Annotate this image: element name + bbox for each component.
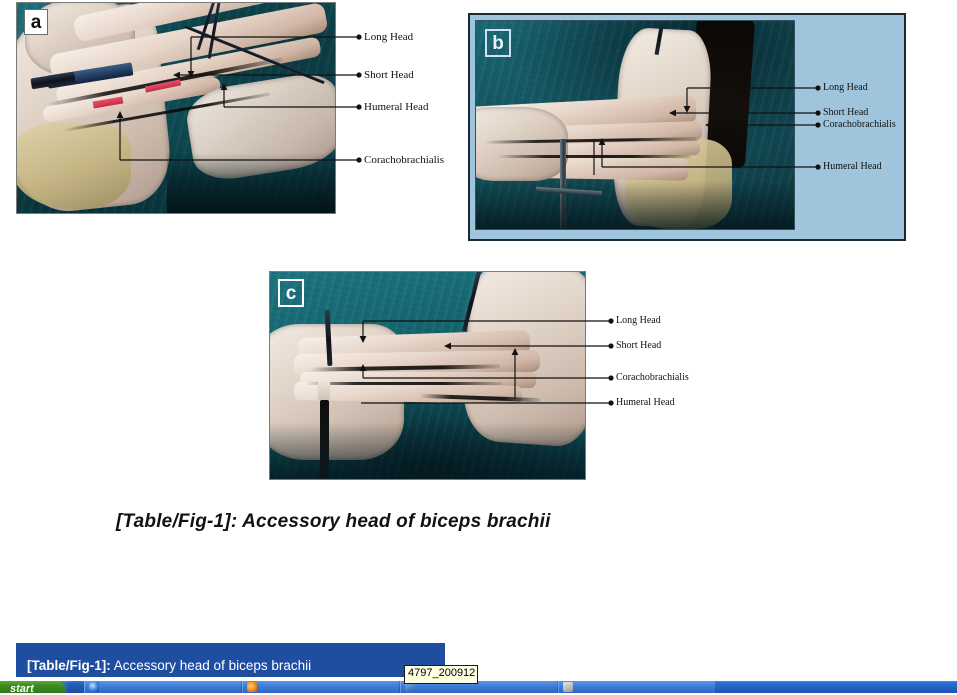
panel-a-shadow — [167, 153, 336, 214]
panel-b-label-corachobrachialis: Corachobrachialis — [823, 120, 896, 130]
panel-c-label-corachobrachialis: Corachobrachialis — [616, 373, 689, 383]
windows-taskbar[interactable]: start — [0, 681, 957, 693]
panel-c-marker: c — [278, 279, 304, 307]
panel-a-marker: a — [24, 9, 48, 35]
panel-b-photograph: b — [475, 20, 795, 230]
start-button-label: start — [10, 684, 34, 695]
figure-panel-a: a Long Head Short Head Humeral Head Cora… — [16, 2, 464, 214]
caption-banner-prefix: [Table/Fig-1]: — [27, 658, 111, 673]
caption-banner-text: [Table/Fig-1]: Accessory head of biceps … — [27, 659, 311, 673]
taskbar-button-4[interactable] — [558, 681, 716, 693]
panel-b-label-humeral-head: Humeral Head — [823, 162, 882, 172]
panel-a-label-long-head: Long Head — [364, 32, 413, 43]
figure-panel-c: c Long Head Short Head Corachobrachialis… — [269, 271, 699, 479]
firefox-icon — [247, 682, 257, 692]
taskbar-button-1[interactable] — [84, 681, 242, 693]
figure-caption: [Table/Fig-1]: Accessory head of biceps … — [116, 511, 551, 533]
panel-c-label-long-head: Long Head — [616, 316, 661, 326]
file-tooltip: 4797_200912 — [404, 665, 478, 684]
panel-a-fat-tissue — [16, 123, 131, 209]
mail-icon — [563, 682, 573, 692]
panel-c-label-humeral-head: Humeral Head — [616, 398, 675, 408]
panel-b-fascial-plane-2 — [498, 155, 690, 158]
start-button[interactable]: start — [0, 681, 66, 693]
panel-c-fascial-plane-2 — [306, 382, 502, 385]
panel-c-marker-letter: c — [286, 284, 297, 303]
panel-b-shadow — [476, 181, 794, 229]
panel-b-marker: b — [485, 29, 511, 57]
panel-c-shadow — [270, 422, 585, 479]
panel-b-marker-letter: b — [492, 34, 504, 53]
panel-a-label-corachobrachialis: Corachobrachialis — [364, 155, 444, 166]
panel-c-label-short-head: Short Head — [616, 341, 661, 351]
panel-a-marker-letter: a — [31, 13, 42, 32]
caption-banner-body: Accessory head of biceps brachii — [111, 658, 311, 673]
panel-b-label-long-head: Long Head — [823, 83, 868, 93]
panel-b-label-short-head: Short Head — [823, 108, 868, 118]
panel-a-label-humeral-head: Humeral Head — [364, 102, 428, 113]
panel-c-photograph: c — [269, 271, 586, 480]
panel-a-label-short-head: Short Head — [364, 70, 414, 81]
caption-banner: [Table/Fig-1]: Accessory head of biceps … — [16, 643, 445, 677]
figure-panel-b: b Long Head Short Head Corachobrachialis… — [468, 13, 906, 241]
internet-explorer-icon — [89, 682, 99, 692]
panel-b-left-tissue — [475, 107, 568, 181]
taskbar-button-2[interactable] — [242, 681, 400, 693]
panel-a-photograph: a — [16, 2, 336, 214]
panel-c-probe-highlight — [318, 378, 330, 400]
